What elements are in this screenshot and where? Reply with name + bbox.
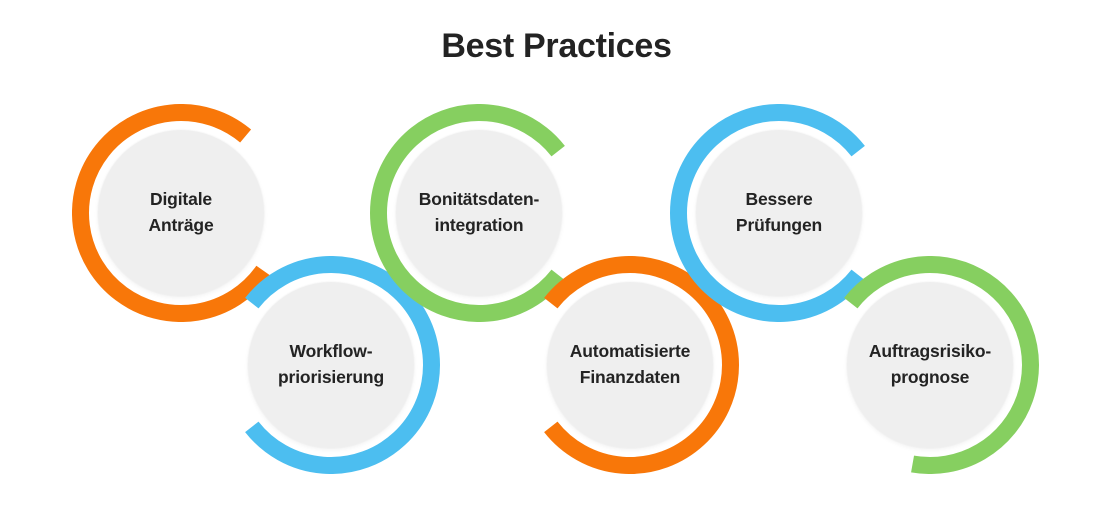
node-6-disc: Auftragsrisiko- prognose [847,282,1013,448]
node-1-label: Digitale Anträge [148,187,213,239]
node-6-label: Auftragsrisiko- prognose [869,339,991,391]
node-5-label: Bessere Prüfungen [736,187,822,239]
infographic-canvas: Best Practices Digitale Anträge Workflow… [0,0,1113,511]
node-6-auftragsrisiko-prognose[interactable]: Auftragsrisiko- prognose [821,256,1039,474]
node-4-label: Automatisierte Finanzdaten [570,339,690,391]
node-chain: Digitale Anträge Workflow- priorisierung… [0,0,1113,511]
node-2-label: Workflow- priorisierung [278,339,384,391]
node-3-label: Bonitätsdaten- integration [419,187,539,239]
